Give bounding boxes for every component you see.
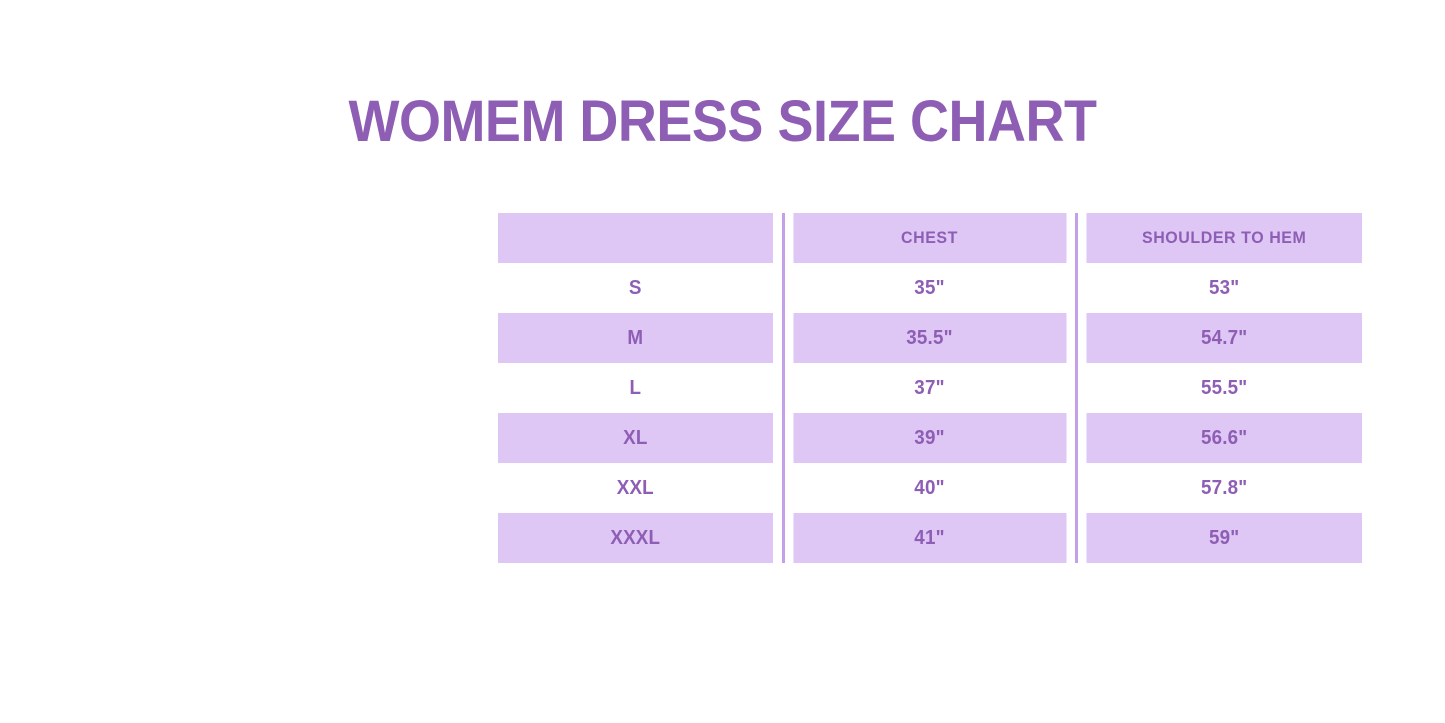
size-chart-table: CHEST SHOULDER TO HEM S 35" 53" M 35.5" …	[489, 213, 1371, 563]
column-header-chest: CHEST	[792, 213, 1067, 263]
table-header: CHEST SHOULDER TO HEM	[489, 213, 1371, 263]
cell-shoulder-to-hem: 56.6"	[1085, 413, 1362, 463]
size-chart-container: CHEST SHOULDER TO HEM S 35" 53" M 35.5" …	[489, 213, 1371, 563]
cell-size: L	[498, 363, 774, 413]
page-title: WOMEM DRESS SIZE CHART	[51, 91, 1395, 153]
table-body: S 35" 53" M 35.5" 54.7" L 37" 55.5" XL 3…	[489, 263, 1371, 563]
cell-size: M	[498, 313, 774, 363]
cell-size: XL	[498, 413, 774, 463]
table-row: M 35.5" 54.7"	[489, 313, 1371, 363]
cell-size: XXXL	[498, 513, 774, 563]
table-row: S 35" 53"	[489, 263, 1371, 313]
column-header-size	[498, 213, 774, 263]
cell-chest: 40"	[792, 463, 1067, 513]
cell-chest: 41"	[792, 513, 1067, 563]
table-row: L 37" 55.5"	[489, 363, 1371, 413]
cell-chest: 37"	[792, 363, 1067, 413]
cell-chest: 35"	[792, 263, 1067, 313]
cell-shoulder-to-hem: 54.7"	[1085, 313, 1362, 363]
cell-size: XXL	[498, 463, 774, 513]
cell-shoulder-to-hem: 55.5"	[1085, 363, 1362, 413]
cell-shoulder-to-hem: 53"	[1085, 263, 1362, 313]
table-row: XXL 40" 57.8"	[489, 463, 1371, 513]
table-row: XXXL 41" 59"	[489, 513, 1371, 563]
table-header-row: CHEST SHOULDER TO HEM	[489, 213, 1371, 263]
column-header-shoulder-to-hem: SHOULDER TO HEM	[1085, 213, 1362, 263]
cell-shoulder-to-hem: 57.8"	[1085, 463, 1362, 513]
cell-shoulder-to-hem: 59"	[1085, 513, 1362, 563]
cell-size: S	[498, 263, 774, 313]
table-row: XL 39" 56.6"	[489, 413, 1371, 463]
cell-chest: 35.5"	[792, 313, 1067, 363]
cell-chest: 39"	[792, 413, 1067, 463]
